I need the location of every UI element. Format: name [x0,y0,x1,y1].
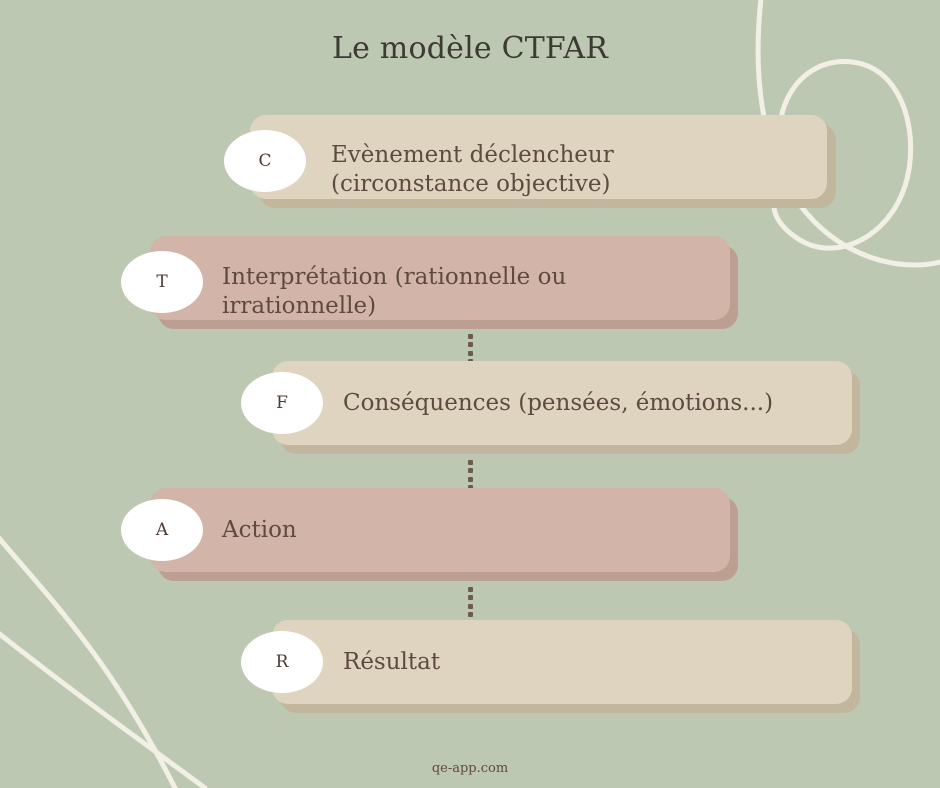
connector-dot [468,612,473,617]
card-label-2: Interprétation (rationnelle ou irrationn… [222,263,742,322]
connector-dot [468,587,473,592]
badge-2: T [121,251,203,313]
badge-4: A [121,499,203,561]
connector-dot [468,595,473,600]
connector-3 [466,587,474,617]
badge-letter-2: T [156,272,167,292]
card-label-5: Résultat [343,648,863,677]
connector-dot [468,334,473,339]
badge-letter-1: C [258,151,271,171]
card-label-3: Conséquences (pensées, émotions...) [343,389,863,418]
connector-dot [468,477,473,482]
connector-1 [466,334,474,364]
badge-3: F [241,372,323,434]
connector-dot [468,351,473,356]
badge-1: C [224,130,306,192]
badge-5: R [241,631,323,693]
card-label-1: Evènement déclencheur (circonstance obje… [331,141,851,200]
connector-2 [466,460,474,490]
card-label-4: Action [222,516,742,545]
footer-watermark: qe-app.com [0,761,940,776]
badge-letter-4: A [156,520,168,540]
connector-dot [468,468,473,473]
page-title: Le modèle CTFAR [0,31,940,66]
connector-dot [468,604,473,609]
badge-letter-5: R [276,652,289,672]
infographic-canvas: Le modèle CTFAR Evènement déclencheur (c… [0,0,940,788]
connector-dot [468,460,473,465]
connector-dot [468,342,473,347]
decor-curve-bottom-left-a [0,530,175,788]
badge-letter-3: F [276,393,288,413]
